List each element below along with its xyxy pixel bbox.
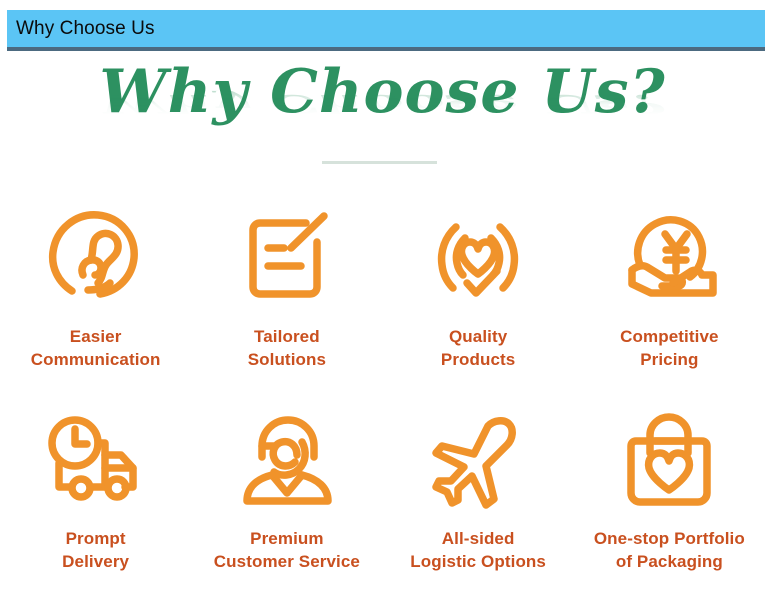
shopping-bag-heart-icon bbox=[619, 408, 719, 514]
window-title-bar: Why Choose Us bbox=[7, 10, 765, 51]
feature-item-quality-products[interactable]: Quality Products bbox=[383, 196, 574, 408]
delivery-truck-clock-icon bbox=[41, 408, 151, 514]
heart-sound-waves-check-icon bbox=[427, 196, 529, 314]
feature-label: Competitive Pricing bbox=[620, 326, 718, 372]
ear-in-circle-icon bbox=[48, 196, 144, 314]
feature-item-all-sided-logistic-options[interactable]: All-sided Logistic Options bbox=[383, 408, 574, 598]
feature-label: Premium Customer Service bbox=[214, 528, 360, 574]
feature-row: Prompt Delivery Premium Customer Service bbox=[0, 408, 765, 598]
feature-label: Quality Products bbox=[441, 326, 515, 372]
feature-item-one-stop-portfolio-of-packaging[interactable]: One-stop Portfolio of Packaging bbox=[574, 408, 765, 598]
page-title: Why Choose Us? bbox=[99, 62, 665, 122]
document-with-pen-icon bbox=[238, 196, 336, 314]
feature-item-easier-communication[interactable]: Easier Communication bbox=[0, 196, 191, 408]
airplane-icon bbox=[428, 408, 528, 514]
feature-item-tailored-solutions[interactable]: Tailored Solutions bbox=[191, 196, 382, 408]
feature-label: Prompt Delivery bbox=[62, 528, 129, 574]
hero-heading-section: Why Choose Us? Why Choose Us? bbox=[0, 62, 765, 170]
feature-label: All-sided Logistic Options bbox=[410, 528, 546, 574]
feature-label: Easier Communication bbox=[31, 326, 161, 372]
headset-agent-icon bbox=[236, 408, 338, 514]
hand-holding-yen-coin-icon bbox=[618, 196, 720, 314]
hero-divider bbox=[322, 161, 437, 164]
feature-grid: Easier Communication Tailored Solutions bbox=[0, 196, 765, 598]
window-title: Why Choose Us bbox=[7, 19, 155, 38]
hero-title-wrap: Why Choose Us? Why Choose Us? bbox=[99, 62, 665, 176]
feature-row: Easier Communication Tailored Solutions bbox=[0, 196, 765, 408]
feature-item-prompt-delivery[interactable]: Prompt Delivery bbox=[0, 408, 191, 598]
feature-item-competitive-pricing[interactable]: Competitive Pricing bbox=[574, 196, 765, 408]
feature-label: Tailored Solutions bbox=[248, 326, 326, 372]
feature-label: One-stop Portfolio of Packaging bbox=[594, 528, 745, 574]
feature-item-premium-customer-service[interactable]: Premium Customer Service bbox=[191, 408, 382, 598]
